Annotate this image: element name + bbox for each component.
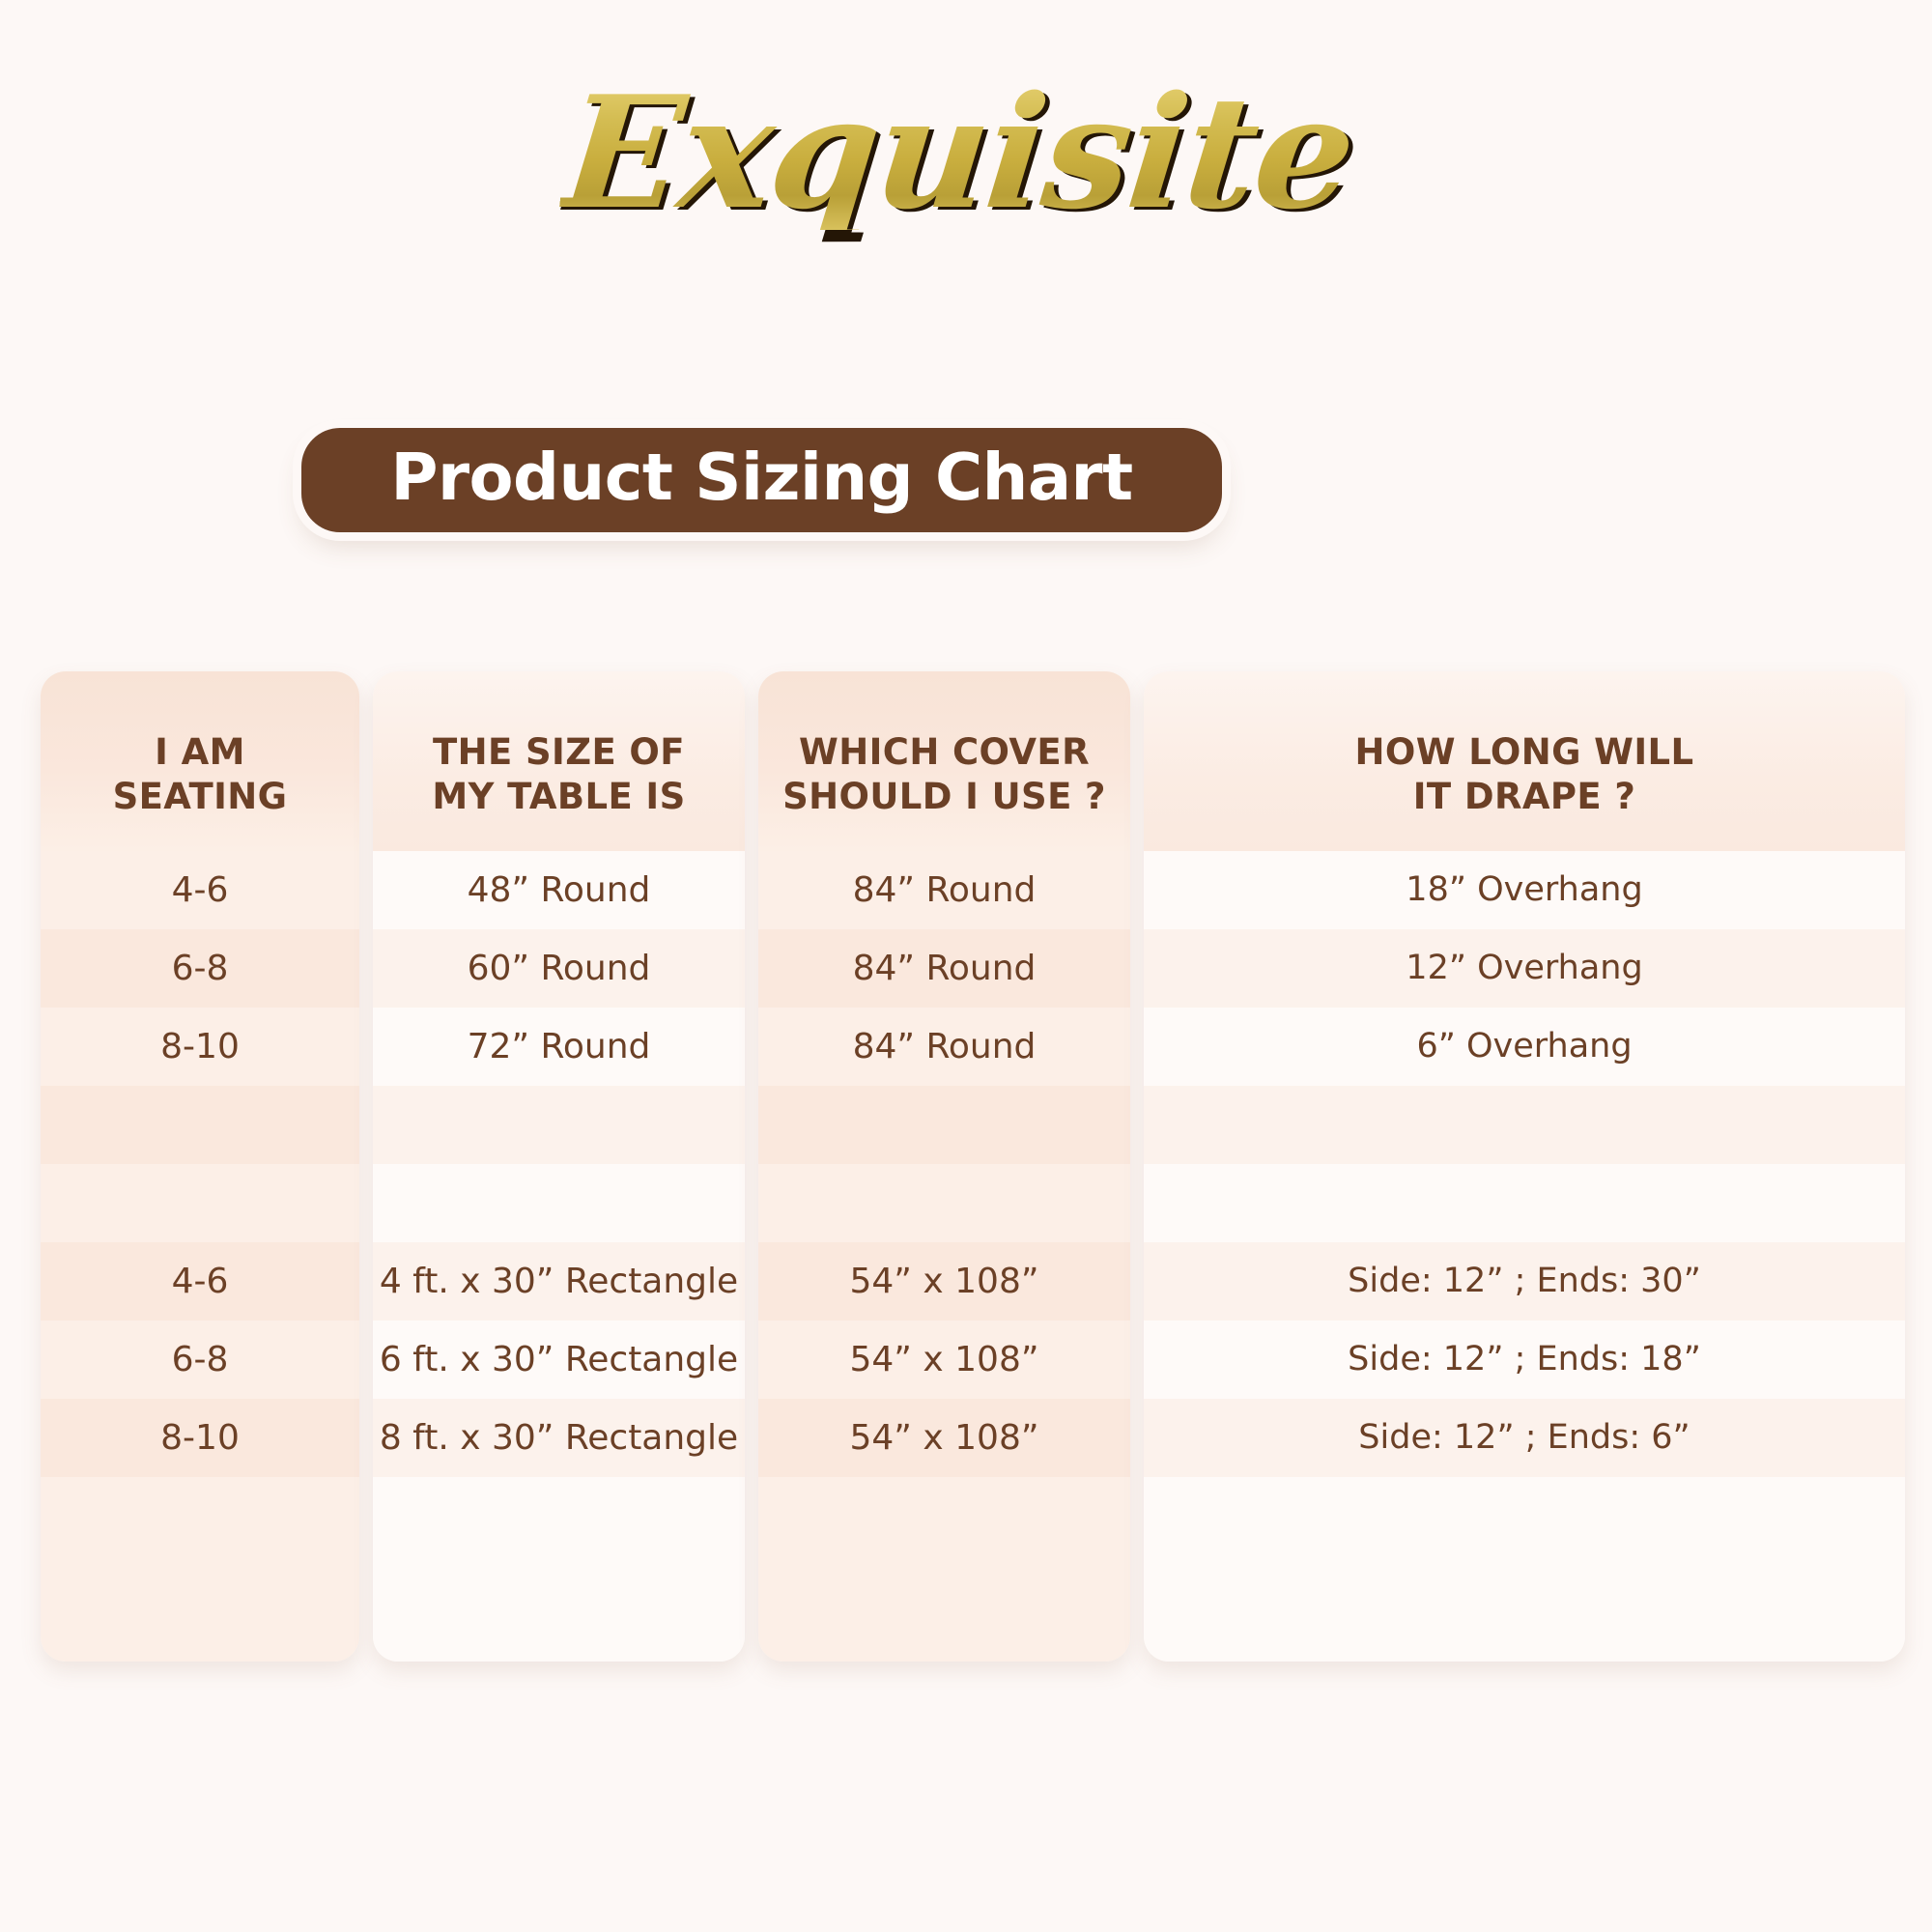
table-cell: 8-10 <box>41 1008 359 1086</box>
table-cell-value: 54” x 108” <box>849 1421 1038 1456</box>
table-cell-value: 6” Overhang <box>1416 1030 1632 1064</box>
column-header-label: HOW LONG WILL IT DRAPE ? <box>1355 730 1694 819</box>
table-cell-value: 72” Round <box>468 1030 651 1065</box>
table-cell: 4-6 <box>41 851 359 929</box>
table-cell: 6” Overhang <box>1144 1008 1905 1086</box>
table-cell-empty <box>758 1477 1130 1555</box>
table-cell: 54” x 108” <box>758 1242 1130 1321</box>
table-cell-value: 84” Round <box>853 1030 1037 1065</box>
table-cell-empty <box>41 1477 359 1555</box>
table-cell-value: 4 ft. x 30” Rectangle <box>380 1264 738 1299</box>
table-cell-value: 12” Overhang <box>1406 952 1642 985</box>
table-cell: 8 ft. x 30” Rectangle <box>373 1399 745 1477</box>
table-cell: 8-10 <box>41 1399 359 1477</box>
column-card-table_size: THE SIZE OF MY TABLE IS48” Round60” Roun… <box>373 671 745 1662</box>
table-cell: 6-8 <box>41 929 359 1008</box>
table-cell-empty <box>373 1477 745 1555</box>
column-header-label: THE SIZE OF MY TABLE IS <box>432 730 685 819</box>
table-cell-value: 8-10 <box>160 1030 240 1065</box>
table-cell-value: 4-6 <box>172 873 229 908</box>
table-cell-empty <box>1144 1164 1905 1242</box>
table-cell: 4-6 <box>41 1242 359 1321</box>
table-cell: 84” Round <box>758 851 1130 929</box>
table-cell-empty <box>1144 1086 1905 1164</box>
table-cell-value: Side: 12” ; Ends: 18” <box>1348 1343 1701 1377</box>
table-cell-empty <box>1144 1477 1905 1555</box>
row-band <box>373 1555 745 1662</box>
table-cell-value: Side: 12” ; Ends: 6” <box>1358 1421 1690 1455</box>
column-header-label: I AM SEATING <box>113 730 288 819</box>
row-band <box>1144 1555 1905 1662</box>
table-cell: 54” x 108” <box>758 1399 1130 1477</box>
table-cell-value: 84” Round <box>853 952 1037 986</box>
brand-logo-text: Exquisite <box>556 75 1360 230</box>
table-cell: 18” Overhang <box>1144 851 1905 929</box>
table-cell: 48” Round <box>373 851 745 929</box>
table-cell-value: 8 ft. x 30” Rectangle <box>380 1421 738 1456</box>
table-cell-value: 48” Round <box>468 873 651 908</box>
table-cell-value: 54” x 108” <box>849 1343 1038 1378</box>
row-band <box>41 1555 359 1662</box>
sizing-chart-page: Exquisite Exquisite Product Sizing Chart… <box>0 0 1932 1932</box>
column-header-drape: HOW LONG WILL IT DRAPE ? <box>1144 671 1905 851</box>
table-cell-empty <box>758 1086 1130 1164</box>
row-band <box>758 1555 1130 1662</box>
table-cell-value: 18” Overhang <box>1406 873 1642 907</box>
table-cell-value: 84” Round <box>853 873 1037 908</box>
table-cell-value: 8-10 <box>160 1421 240 1456</box>
table-cell: 6 ft. x 30” Rectangle <box>373 1321 745 1399</box>
table-cell-empty <box>41 1164 359 1242</box>
page-title-banner: Product Sizing Chart <box>301 428 1222 532</box>
table-cell-value: 6-8 <box>172 952 229 986</box>
column-card-cover: WHICH COVER SHOULD I USE ?84” Round84” R… <box>758 671 1130 1662</box>
column-header-table_size: THE SIZE OF MY TABLE IS <box>373 671 745 851</box>
table-cell-empty <box>373 1164 745 1242</box>
table-cell-value: 54” x 108” <box>849 1264 1038 1299</box>
table-cell-value: 6 ft. x 30” Rectangle <box>380 1343 738 1378</box>
table-cell-empty <box>373 1086 745 1164</box>
table-cell-empty <box>41 1086 359 1164</box>
table-cell-value: 4-6 <box>172 1264 229 1299</box>
table-cell-value: 6-8 <box>172 1343 229 1378</box>
brand-logo: Exquisite Exquisite <box>0 75 1932 298</box>
table-cell: 72” Round <box>373 1008 745 1086</box>
column-header-label: WHICH COVER SHOULD I USE ? <box>782 730 1106 819</box>
table-cell: 4 ft. x 30” Rectangle <box>373 1242 745 1321</box>
table-cell: 12” Overhang <box>1144 929 1905 1008</box>
table-cell: Side: 12” ; Ends: 6” <box>1144 1399 1905 1477</box>
table-cell: 54” x 108” <box>758 1321 1130 1399</box>
column-header-cover: WHICH COVER SHOULD I USE ? <box>758 671 1130 851</box>
table-cell: 60” Round <box>373 929 745 1008</box>
table-cell: Side: 12” ; Ends: 30” <box>1144 1242 1905 1321</box>
table-cell-value: 60” Round <box>468 952 651 986</box>
table-cell: 84” Round <box>758 1008 1130 1086</box>
column-card-seating: I AM SEATING4-66-88-104-66-88-10 <box>41 671 359 1662</box>
column-header-seating: I AM SEATING <box>41 671 359 851</box>
column-card-drape: HOW LONG WILL IT DRAPE ?18” Overhang12” … <box>1144 671 1905 1662</box>
page-title: Product Sizing Chart <box>390 445 1132 510</box>
sizing-table: I AM SEATING4-66-88-104-66-88-10THE SIZE… <box>41 671 1891 1662</box>
table-cell-empty <box>758 1164 1130 1242</box>
table-cell: Side: 12” ; Ends: 18” <box>1144 1321 1905 1399</box>
table-cell-value: Side: 12” ; Ends: 30” <box>1348 1264 1701 1298</box>
table-cell: 84” Round <box>758 929 1130 1008</box>
table-cell: 6-8 <box>41 1321 359 1399</box>
